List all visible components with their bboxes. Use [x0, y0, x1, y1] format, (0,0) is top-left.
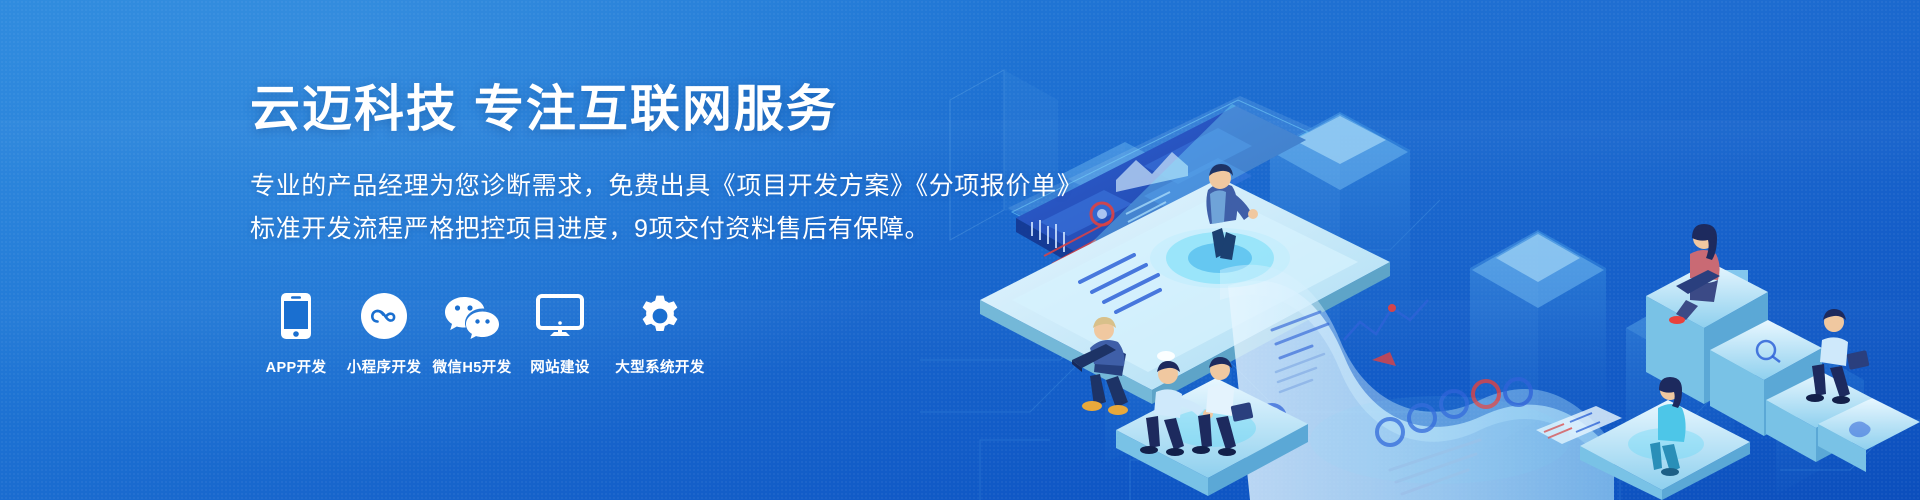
person-standing-on-tablet [1206, 164, 1258, 260]
man-with-briefcase-on-step [1806, 309, 1869, 404]
banner-copy: 云迈科技 专注互联网服务 专业的产品经理为您诊断需求，免费出具《项目开发方案》《… [250, 78, 970, 251]
person-with-laptop-on-tablet-edge [1072, 317, 1128, 415]
service-label: 大型系统开发 [604, 356, 716, 377]
woman-on-platform [1650, 377, 1686, 476]
chat-bubble [1690, 270, 1748, 312]
left-pedestal-platform [1116, 378, 1308, 496]
service-item-wechat-h5[interactable]: 微信H5开发 [428, 288, 516, 377]
isometric-tech-city-illustration [920, 0, 1920, 500]
service-item-website[interactable]: 网站建设 [516, 288, 604, 377]
promo-banner: 云迈科技 专注互联网服务 专业的产品经理为您诊断需求，免费出具《项目开发方案》《… [0, 0, 1920, 500]
city-skyline-buildings [950, 70, 1864, 495]
gear-icon [604, 288, 716, 344]
service-list: APP开发 小程序开发 [252, 288, 716, 377]
woman-with-laptop-on-pillar [1669, 224, 1720, 324]
service-label: APP开发 [252, 356, 340, 377]
mobile-phone-icon [252, 288, 340, 344]
page-title: 云迈科技 专注互联网服务 [250, 78, 970, 141]
data-ribbon-chart [1220, 265, 1622, 500]
pillar-steps [1646, 262, 1920, 472]
two-men-on-platform [1140, 357, 1253, 456]
banner-subtitle: 专业的产品经理为您诊断需求，免费出具《项目开发方案》《分项报价单》 标准开发流程… [250, 165, 970, 251]
monitor-icon [516, 288, 604, 344]
circuit-grid [920, 200, 1920, 500]
service-item-mini-program[interactable]: 小程序开发 [340, 288, 428, 377]
service-label: 小程序开发 [340, 356, 428, 377]
service-item-app[interactable]: APP开发 [252, 288, 340, 377]
tablet-platform [980, 178, 1390, 404]
subtitle-line-1: 专业的产品经理为您诊断需求，免费出具《项目开发方案》《分项报价单》 [250, 165, 970, 208]
right-pedestal-platform [1580, 400, 1750, 500]
service-label: 微信H5开发 [428, 356, 516, 377]
wechat-icon [428, 288, 516, 344]
service-label: 网站建设 [516, 356, 604, 377]
subtitle-line-2: 标准开发流程严格把控项目进度，9项交付资料售后有保障。 [250, 208, 970, 251]
service-item-large-system[interactable]: 大型系统开发 [604, 288, 716, 377]
mini-program-icon [340, 288, 428, 344]
